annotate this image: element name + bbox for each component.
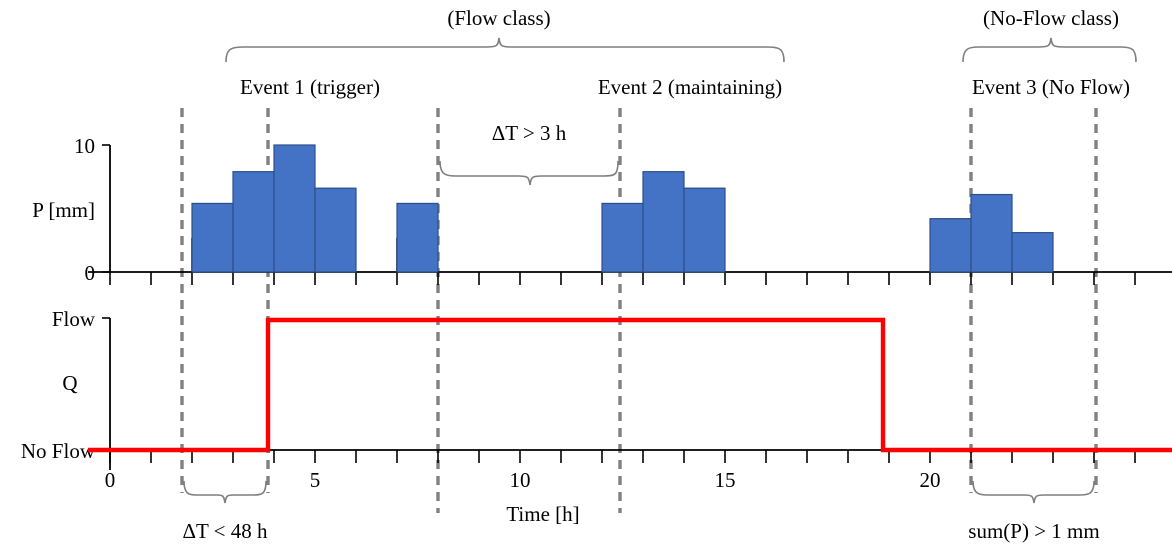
flow-panel: Flow No Flow Q: [21, 307, 1172, 526]
dt48-brace-group: ΔT < 48 h: [182, 481, 268, 543]
dt48-annotation: ΔT < 48 h: [182, 519, 268, 543]
precip-bar: [192, 203, 233, 272]
x-tick-label: 15: [715, 468, 736, 492]
event3-label: Event 3 (No Flow): [972, 75, 1130, 99]
flow-ytick-label-flow: Flow: [52, 307, 96, 331]
sump-brace: [973, 481, 1094, 503]
flow-ytick-label-noflow: No Flow: [21, 439, 96, 463]
x-tick-label: 5: [310, 468, 321, 492]
event1-label: Event 1 (trigger): [240, 75, 380, 99]
precip-bar: [684, 188, 725, 272]
precipitation-panel: 10 0 P [mm]: [32, 134, 1172, 285]
precip-bars: [192, 145, 1053, 272]
sump-brace-group: sum(P) > 1 mm: [968, 481, 1099, 543]
x-tick-labels: 05101520: [105, 468, 941, 492]
precipitation-flow-figure: (Flow class) Event 1 (trigger) Event 2 (…: [0, 0, 1172, 549]
sump-annotation: sum(P) > 1 mm: [968, 519, 1099, 543]
figure-canvas: (Flow class) Event 1 (trigger) Event 2 (…: [0, 0, 1172, 549]
flow-class-brace: [226, 38, 784, 62]
precip-minor-ticks: [110, 272, 1135, 285]
precip-bar: [643, 172, 684, 272]
precip-bar: [971, 195, 1012, 272]
precip-ytick-label-0: 0: [85, 261, 96, 285]
precip-y-axis-label: P [mm]: [32, 198, 95, 222]
flow-y-axis-label: Q: [62, 371, 77, 395]
precip-bar: [274, 145, 315, 272]
precip-bar: [930, 219, 971, 272]
precip-bar: [233, 172, 274, 272]
precip-bar: [1012, 233, 1053, 272]
event2-label: Event 2 (maintaining): [598, 75, 782, 99]
x-tick-label: 20: [920, 468, 941, 492]
gap-brace-group: ΔT > 3 h: [440, 121, 618, 185]
gap-annotation: ΔT > 3 h: [492, 121, 567, 145]
precip-bar: [602, 203, 643, 272]
precip-bar: [397, 203, 438, 272]
noflow-class-brace-group: (No-Flow class) Event 3 (No Flow): [963, 6, 1136, 99]
precip-ytick-label-10: 10: [74, 134, 95, 158]
gap-brace: [440, 161, 618, 185]
flow-class-brace-group: (Flow class) Event 1 (trigger) Event 2 (…: [226, 6, 784, 99]
flow-class-title: (Flow class): [447, 6, 550, 30]
noflow-class-title: (No-Flow class): [983, 6, 1119, 30]
precip-bar: [315, 188, 356, 272]
dt48-brace: [184, 481, 266, 503]
event-boundary-lines: [182, 108, 1096, 513]
x-tick-label: 0: [105, 468, 116, 492]
noflow-class-brace: [963, 38, 1136, 62]
x-axis-label: Time [h]: [506, 502, 579, 526]
x-tick-label: 10: [510, 468, 531, 492]
flow-step-line: [88, 320, 1172, 450]
